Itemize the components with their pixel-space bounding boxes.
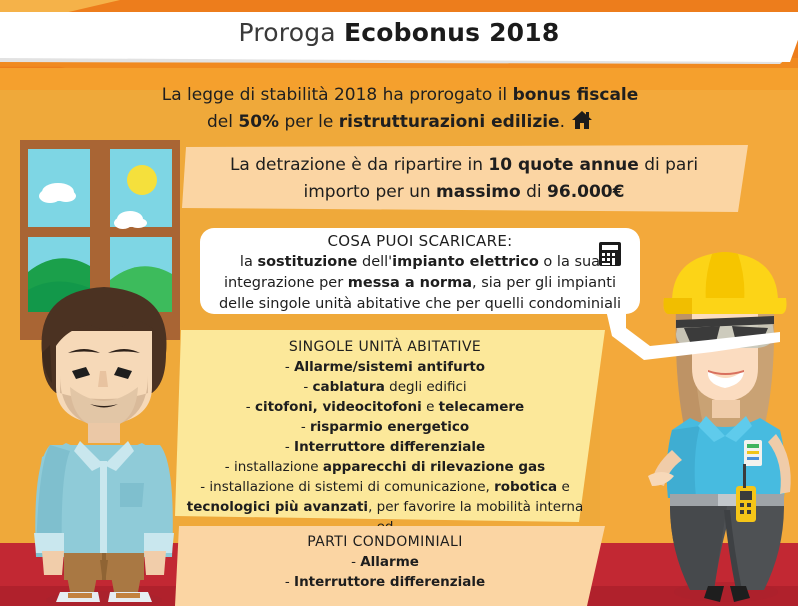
lead-line-2: del 50% per le ristrutturazioni edilizie… xyxy=(60,109,740,139)
female-construction-worker-illustration xyxy=(648,250,798,606)
lead-line1-bold: bonus fiscale xyxy=(513,85,639,105)
list-item: - risparmio energetico xyxy=(178,417,592,437)
bubble-l2-plain-a: integrazione per xyxy=(224,275,348,291)
detrazione-l1-plain-b: di pari xyxy=(639,155,698,175)
lead-line2-plain-b: per le xyxy=(279,112,339,132)
detrazione-line-1: La detrazione è da ripartire in 10 quote… xyxy=(190,152,738,179)
detrazione-l2-plain-b: di xyxy=(521,182,547,202)
lead-statement: La legge di stabilità 2018 ha prorogato … xyxy=(60,82,740,139)
list-item-plain: e xyxy=(557,479,570,495)
detrazione-panel-text: La detrazione è da ripartire in 10 quote… xyxy=(190,152,738,206)
detrazione-l2-bold-b: 96.000€ xyxy=(547,182,624,202)
list-item-bold: citofoni, videocitofoni xyxy=(255,399,422,415)
lead-line1-plain: La legge di stabilità 2018 ha prorogato … xyxy=(162,85,513,105)
lead-line2-bold-b: ristrutturazioni edilizie xyxy=(339,112,560,132)
list-item-bold: Allarme xyxy=(360,554,419,570)
bubble-line-3: delle singole unità abitative che per qu… xyxy=(205,294,635,315)
detrazione-l2-plain-a: importo per un xyxy=(304,182,437,202)
list-item: - citofoni, videocitofoni e telecamere xyxy=(178,397,592,417)
detrazione-l2-bold-a: massimo xyxy=(436,182,521,202)
list-item: - Allarme/sistemi antifurto xyxy=(178,357,592,377)
list-item: - Interruttore differenziale xyxy=(178,572,592,592)
page-title: Proroga Ecobonus 2018 xyxy=(0,14,798,52)
list-item-plain: installazione xyxy=(234,459,323,475)
calculator-icon xyxy=(598,241,622,271)
list-item-bold: telecamere xyxy=(439,399,525,415)
list-item-dash: - xyxy=(285,359,294,375)
list-item-dash: - xyxy=(200,479,209,495)
list-item: - Allarme xyxy=(178,552,592,572)
list-item-bold: tecnologici più avanzati xyxy=(187,499,368,515)
bubble-l2-plain-b: , sia per gli impianti xyxy=(472,275,616,291)
man-legs-illustration xyxy=(20,560,188,606)
man-character-illustration xyxy=(20,275,188,580)
list-item-dash: - xyxy=(301,419,310,435)
list-item-plain: e xyxy=(422,399,439,415)
parti-condominiali-heading: PARTI CONDOMINIALI xyxy=(178,532,592,552)
bubble-l1-bold-b: impianto elettrico xyxy=(392,254,539,270)
list-item: - installazione apparecchi di rilevazion… xyxy=(178,457,592,477)
detrazione-l1-plain-a: La detrazione è da ripartire in xyxy=(230,155,488,175)
list-item-dash: - xyxy=(285,574,294,590)
lead-line2-plain-a: del xyxy=(207,112,238,132)
lead-line2-plain-c: . xyxy=(560,112,565,132)
page-title-regular: Proroga xyxy=(239,18,344,47)
bubble-l1-plain-a: la xyxy=(240,254,258,270)
detrazione-line-2: importo per un massimo di 96.000€ xyxy=(190,179,738,206)
list-item-dash: - xyxy=(351,554,360,570)
page-title-bold: Ecobonus 2018 xyxy=(344,18,560,47)
bubble-l1-plain-c: o la sua xyxy=(539,254,600,270)
list-item-bold: apparecchi di rilevazione gas xyxy=(323,459,545,475)
bubble-heading: COSA PUOI SCARICARE: xyxy=(205,231,635,252)
infographic-canvas: Proroga Ecobonus 2018 La legge di stabil… xyxy=(0,0,798,606)
list-item-dash: - xyxy=(285,439,294,455)
list-item-dash: - xyxy=(246,399,255,415)
list-item-bold: risparmio energetico xyxy=(310,419,469,435)
list-item-plain: degli edifici xyxy=(385,379,467,395)
detrazione-l1-bold: 10 quote annue xyxy=(488,155,638,175)
sun-icon xyxy=(127,165,157,195)
bubble-line-1: la sostituzione dell'impianto elettrico … xyxy=(205,252,635,273)
list-item-plain: installazione di sistemi di comunicazion… xyxy=(209,479,494,495)
list-item: - Interruttore differenziale xyxy=(178,437,592,457)
bubble-l1-plain-b: dell' xyxy=(357,254,392,270)
parti-condominiali-text: PARTI CONDOMINIALI - Allarme- Interrutto… xyxy=(178,532,592,592)
bubble-l2-bold: messa a norma xyxy=(348,275,472,291)
singole-unita-heading: SINGOLE UNITÀ ABITATIVE xyxy=(178,337,592,357)
list-item-bold: cablatura xyxy=(312,379,384,395)
bubble-l1-bold-a: sostituzione xyxy=(257,254,357,270)
singole-unita-text: SINGOLE UNITÀ ABITATIVE - Allarme/sistem… xyxy=(178,337,592,557)
bubble-line-2: integrazione per messa a norma, sia per … xyxy=(205,273,635,294)
list-item-bold: robotica xyxy=(494,479,557,495)
list-item-bold: Interruttore differenziale xyxy=(294,439,485,455)
lead-line2-bold-a: 50% xyxy=(238,112,279,132)
list-item: - installazione di sistemi di comunicazi… xyxy=(178,477,592,497)
lead-line-1: La legge di stabilità 2018 ha prorogato … xyxy=(60,82,740,109)
list-item-bold: Interruttore differenziale xyxy=(294,574,485,590)
parti-condominiali-list: - Allarme- Interruttore differenziale xyxy=(178,552,592,592)
list-item-dash: - xyxy=(225,459,234,475)
speech-bubble-text: COSA PUOI SCARICARE: la sostituzione del… xyxy=(205,231,635,315)
list-item: - cablatura degli edifici xyxy=(178,377,592,397)
list-item-bold: Allarme/sistemi antifurto xyxy=(294,359,485,375)
home-icon xyxy=(571,110,593,139)
